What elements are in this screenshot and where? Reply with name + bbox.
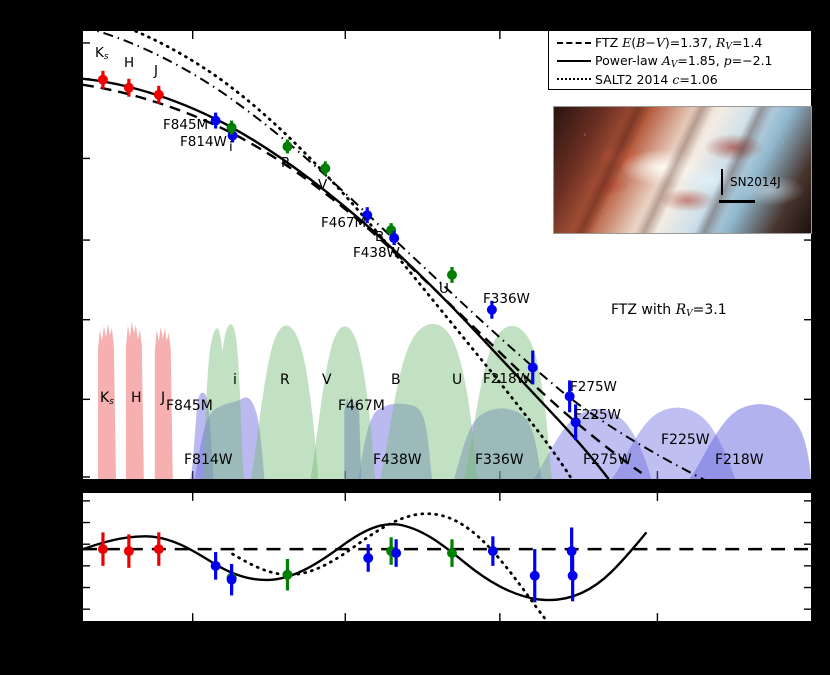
legend-row-powerlaw: Power-law AV=1.85, p=−2.1: [555, 52, 805, 70]
legend-key-dashed: [555, 34, 595, 52]
datapoint-v: [363, 553, 373, 563]
band-label-r: R: [280, 373, 290, 387]
point-label-ks: Ks: [95, 47, 109, 62]
band-label-v: V: [322, 373, 332, 387]
datapoint-r: [282, 570, 292, 580]
band-label-f814w: F814W: [184, 453, 233, 467]
residual-points-group: [98, 527, 578, 602]
datapoint-ks: [98, 544, 108, 554]
legend-key-solid: [555, 52, 595, 70]
point-label-b: B: [375, 231, 384, 245]
datapoint-u: [447, 548, 457, 558]
datapoint-ks: [98, 75, 108, 85]
point-label-h: H: [124, 57, 134, 71]
point-label-f814w: F814W: [180, 136, 227, 150]
band-label-u: U: [452, 373, 462, 387]
legend-key-dotted: [555, 70, 595, 88]
datapoint-r: [282, 142, 292, 152]
figure-root: Ks H J F845M F814W i R V F467M B F438W U…: [0, 0, 830, 675]
band-label-f336w: F336W: [475, 453, 524, 467]
band-label-ks: Ks: [100, 391, 114, 407]
datapoint-f225w: [568, 571, 578, 581]
datapoint-j: [154, 544, 164, 554]
band-label-f438w: F438W: [373, 453, 422, 467]
datapoint-f438w: [389, 233, 399, 243]
datapoint-u: [447, 270, 457, 280]
residual-panel: [82, 492, 812, 622]
band-label-f467m: F467M: [338, 399, 385, 413]
point-label-f218w: F218W: [483, 373, 530, 387]
point-label-f275w: F275W: [570, 381, 617, 395]
extinction-curve-panel: Ks H J F845M F814W i R V F467M B F438W U…: [82, 30, 812, 480]
point-label-i: i: [229, 141, 233, 155]
ftz-rv31-annotation: FTZ with RV=3.1: [611, 303, 727, 319]
galaxy-stars: [554, 107, 811, 233]
band-label-b: B: [391, 373, 401, 387]
point-label-f336w: F336W: [483, 293, 530, 307]
point-label-f225w: F225W: [574, 409, 621, 423]
datapoint-f218w: [530, 571, 540, 581]
band-label-f225w: F225W: [661, 433, 710, 447]
band-label-h: H: [131, 391, 142, 405]
band-label-i: i: [233, 373, 237, 387]
residual-axis-ticks: [83, 493, 811, 621]
datapoint-i: [227, 123, 237, 133]
residual-powerlaw-curve: [83, 524, 646, 600]
band-label-f218w: F218W: [715, 453, 764, 467]
datapoint-h: [124, 546, 134, 556]
sn-position-marker: [721, 169, 723, 195]
sn-scale-bar: [719, 200, 755, 203]
band-label-f845m: F845M: [166, 399, 213, 413]
band-label-j: J: [161, 391, 165, 405]
point-label-j: J: [154, 65, 158, 79]
sn-label: SN2014J: [730, 175, 781, 189]
legend-label-ftz: FTZ E(B−V)=1.37, RV=1.4: [595, 35, 762, 52]
point-label-u: U: [439, 283, 449, 297]
datapoint-f814w: [227, 575, 237, 585]
datapoint-h: [124, 83, 134, 93]
galaxy-inset-image: SN2014J: [553, 106, 812, 234]
legend-box: FTZ E(B−V)=1.37, RV=1.4 Power-law AV=1.8…: [548, 30, 812, 90]
legend-label-powerlaw: Power-law AV=1.85, p=−2.1: [595, 53, 773, 70]
datapoint-f845m: [211, 116, 221, 126]
datapoint-j: [154, 90, 164, 100]
datapoint-f438w: [391, 548, 401, 558]
point-label-f438w: F438W: [353, 247, 400, 261]
legend-row-ftz: FTZ E(B−V)=1.37, RV=1.4: [555, 34, 805, 52]
point-label-f845m: F845M: [163, 119, 208, 133]
point-label-v: V: [318, 179, 327, 193]
legend-label-salt2: SALT2 2014 c=1.06: [595, 72, 718, 87]
datapoint-f336w: [488, 546, 498, 556]
datapoint-f845m: [211, 561, 221, 571]
band-label-f275w: F275W: [583, 453, 632, 467]
residual-salt2-curve: [233, 514, 558, 622]
datapoint-v: [320, 163, 330, 173]
residual-svg: [83, 493, 811, 621]
legend-row-salt2: SALT2 2014 c=1.06: [555, 70, 805, 88]
point-label-f467m: F467M: [321, 217, 366, 231]
point-label-r: R: [281, 157, 290, 171]
